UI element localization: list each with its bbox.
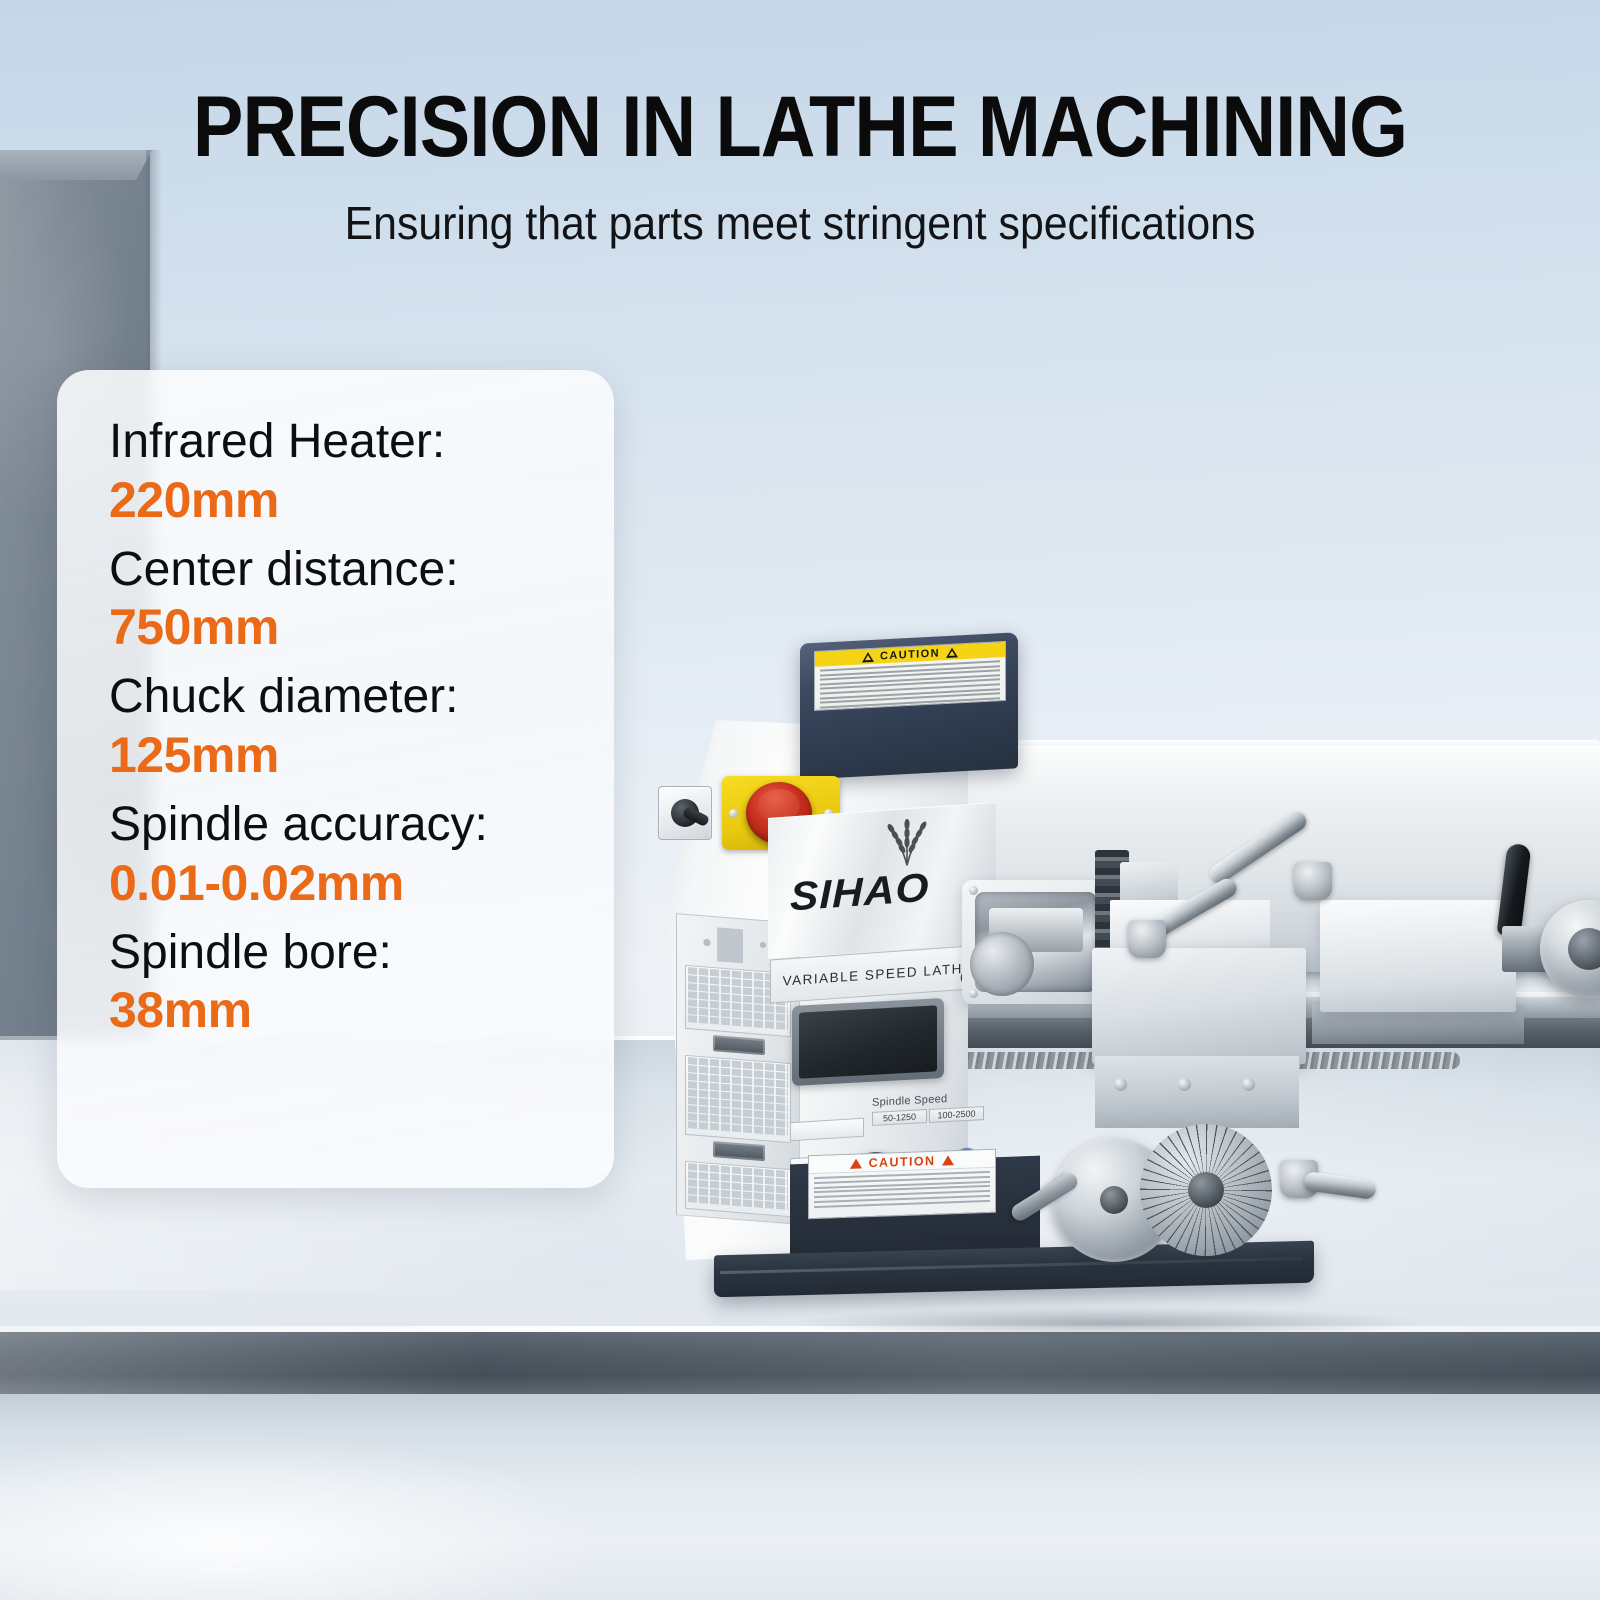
guard-bolt xyxy=(969,989,978,998)
spec-value: 125mm xyxy=(109,726,614,785)
compound-lock-knob[interactable] xyxy=(1128,920,1166,958)
speed-range-high: 100-2500 xyxy=(929,1106,984,1123)
caution-top-text: CAUTION xyxy=(880,647,940,662)
brand-name: SIHAO xyxy=(790,866,930,921)
warning-triangle-icon xyxy=(942,1155,954,1165)
caution-label-bottom: CAUTION xyxy=(808,1149,996,1220)
wheat-emblem-icon xyxy=(864,812,950,870)
spec-item-spindle-accuracy: Spindle accuracy: 0.01-0.02mm xyxy=(109,797,614,913)
spec-label: Center distance: xyxy=(109,542,614,599)
guard-bolt xyxy=(969,886,978,895)
warning-triangle-icon xyxy=(862,651,874,662)
spindle-speed-ranges: 50-1250 100-2500 xyxy=(872,1106,984,1126)
caution-top-body-text xyxy=(815,657,1005,711)
page-title: PRECISION IN LATHE MACHINING xyxy=(96,78,1504,177)
spec-item-infrared-heater: Infrared Heater: 220mm xyxy=(109,414,614,530)
warning-triangle-icon xyxy=(850,1158,862,1168)
tailstock-clamp-knob[interactable] xyxy=(1294,862,1332,900)
digital-display xyxy=(792,998,944,1086)
spec-label: Chuck diameter: xyxy=(109,669,614,726)
spec-label: Infrared Heater: xyxy=(109,414,614,471)
spec-item-chuck-diameter: Chuck diameter: 125mm xyxy=(109,669,614,785)
carriage-saddle xyxy=(1092,948,1306,1064)
spec-label: Spindle bore: xyxy=(109,925,614,982)
lathe-chuck xyxy=(970,932,1034,996)
control-box: CAUTION xyxy=(800,632,1018,779)
spec-value: 0.01-0.02mm xyxy=(109,854,614,913)
tailstock-body xyxy=(1320,900,1516,1012)
spec-value: 220mm xyxy=(109,471,614,530)
carriage-apron xyxy=(1095,1056,1299,1128)
thread-chart-table-3 xyxy=(685,1161,791,1217)
handwheel-hub xyxy=(1100,1186,1128,1214)
floor-light-glow xyxy=(0,1394,1600,1600)
chart-connector-1 xyxy=(713,1035,765,1055)
spec-item-spindle-bore: Spindle bore: 38mm xyxy=(109,925,614,1041)
specifications-card: Infrared Heater: 220mm Center distance: … xyxy=(57,370,614,1188)
spec-label: Spindle accuracy: xyxy=(109,797,614,854)
spindle-speed-label-block: Spindle Speed 50-1250 100-2500 xyxy=(872,1091,984,1141)
caution-bottom-body-text xyxy=(809,1168,995,1214)
thread-chart-table-2 xyxy=(685,1055,791,1143)
lathe-machine-illustration: CAUTION xyxy=(640,600,1600,1320)
spec-value: 750mm xyxy=(109,598,614,657)
caution-bottom-text: CAUTION xyxy=(869,1153,936,1169)
rotary-selector-switch[interactable] xyxy=(658,786,712,840)
specifications-list: Infrared Heater: 220mm Center distance: … xyxy=(57,370,614,1188)
model-name-text: VARIABLE SPEED LATHE xyxy=(783,960,974,988)
apron-bolt xyxy=(1178,1078,1191,1091)
product-banner: PRECISION IN LATHE MACHINING Ensuring th… xyxy=(0,0,1600,1600)
handwheel-hub xyxy=(1188,1172,1224,1208)
page-subtitle: Ensuring that parts meet stringent speci… xyxy=(56,196,1544,250)
spec-value: 38mm xyxy=(109,981,614,1040)
spec-item-center-distance: Center distance: 750mm xyxy=(109,542,614,658)
apron-bolt xyxy=(1114,1078,1127,1091)
machine-ground-shadow xyxy=(660,1300,1560,1346)
speed-range-low: 50-1250 xyxy=(872,1109,927,1126)
apron-bolt xyxy=(1242,1078,1255,1091)
warning-triangle-icon xyxy=(946,647,958,658)
feed-lever-arm[interactable] xyxy=(1303,1171,1377,1200)
chart-connector-2 xyxy=(713,1141,765,1161)
caution-label-top: CAUTION xyxy=(814,641,1006,711)
